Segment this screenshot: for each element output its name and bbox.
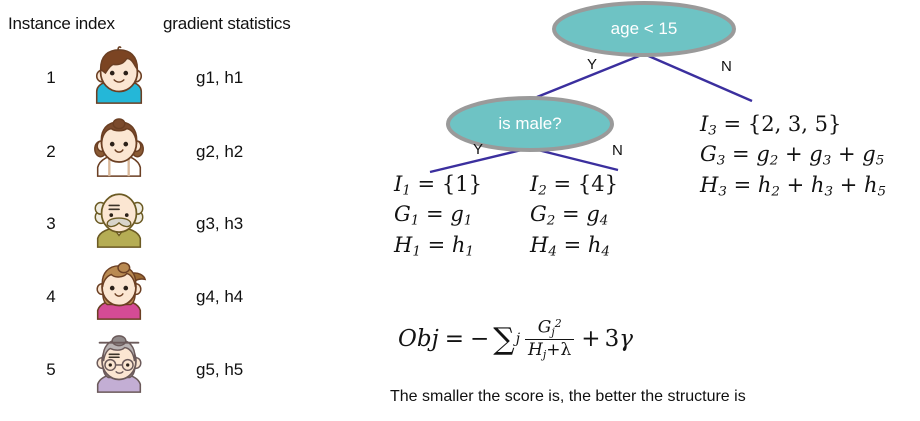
leaf1-I-line: I1 = {1} xyxy=(394,170,482,200)
leaf3-G-terms: g2 + g3 + g5 xyxy=(756,142,884,166)
leaf-stats-block-1: I1 = {1} G1 = g1 H1 = h1 xyxy=(394,170,482,261)
leaf2-G-line: G2 = g4 xyxy=(530,200,618,230)
leaf-stats-block-3: I3 = {2, 3, 5} G3 = g2 + g3 + g5 H3 = h2… xyxy=(700,110,886,201)
objective-numerator: Gj2 xyxy=(535,318,565,339)
tree-edge-root-no xyxy=(644,54,752,101)
objective-denominator: Hj+λ xyxy=(525,339,574,361)
leaf3-H-line: H3 = h2 + h3 + h5 xyxy=(700,171,886,201)
column-header-gradient-statistics: gradient statistics xyxy=(163,14,291,34)
table-row-stats: g2, h2 xyxy=(196,142,243,162)
old-man-avatar-icon xyxy=(88,188,150,250)
leaf2-H-line: H4 = h4 xyxy=(530,231,618,261)
woman-avatar-icon xyxy=(88,260,150,322)
table-row-stats: g1, h1 xyxy=(196,68,243,88)
tree-edge-label-child-yes: Y xyxy=(473,141,483,158)
objective-lhs: Obj xyxy=(398,326,439,352)
objective-equals: = xyxy=(445,326,464,352)
table-row-stats: g3, h3 xyxy=(196,214,243,234)
objective-minus: − xyxy=(470,326,489,352)
gamma-coefficient: 3 xyxy=(605,326,620,352)
summation-subscript: j xyxy=(516,331,520,347)
leaf3-I-line: I3 = {2, 3, 5} xyxy=(700,110,886,140)
column-header-instance-index: Instance index xyxy=(8,14,115,34)
leaf1-G-line: G1 = g1 xyxy=(394,200,482,230)
leaf1-H-line: H1 = h1 xyxy=(394,231,482,261)
table-row-stats: g4, h4 xyxy=(196,287,243,307)
tree-edge-label-root-yes: Y xyxy=(587,56,597,73)
table-row-index: 1 xyxy=(36,68,66,88)
leaf-stats-block-2: I2 = {4} G2 = g4 H4 = h4 xyxy=(530,170,618,261)
objective-fraction: Gj2 Hj+λ xyxy=(525,318,574,361)
leaf3-G-line: G3 = g2 + g3 + g5 xyxy=(700,140,886,170)
objective-plus: + xyxy=(581,326,600,352)
table-row-index: 4 xyxy=(36,287,66,307)
table-row-index: 5 xyxy=(36,360,66,380)
table-row-stats: g5, h5 xyxy=(196,360,243,380)
gamma-symbol: γ xyxy=(619,326,633,352)
slide-canvas: Instance index gradient statistics 1 g1,… xyxy=(0,0,920,421)
boy-avatar-icon xyxy=(88,45,150,107)
tree-edge-label-child-no: N xyxy=(612,142,623,159)
tree-node-root[interactable] xyxy=(554,3,734,55)
objective-formula: Obj = − ∑j Gj2 Hj+λ + 3γ xyxy=(398,318,633,361)
old-woman-avatar-icon xyxy=(88,333,150,395)
caption-text: The smaller the score is, the better the… xyxy=(390,388,746,406)
tree-edge-label-root-no: N xyxy=(721,58,732,75)
leaf2-I-line: I2 = {4} xyxy=(530,170,618,200)
girl-avatar-icon xyxy=(88,117,150,179)
table-row-index: 3 xyxy=(36,214,66,234)
leaf3-H-terms: h2 + h3 + h5 xyxy=(758,173,886,197)
table-row-index: 2 xyxy=(36,142,66,162)
summation-icon: ∑ xyxy=(493,328,514,352)
